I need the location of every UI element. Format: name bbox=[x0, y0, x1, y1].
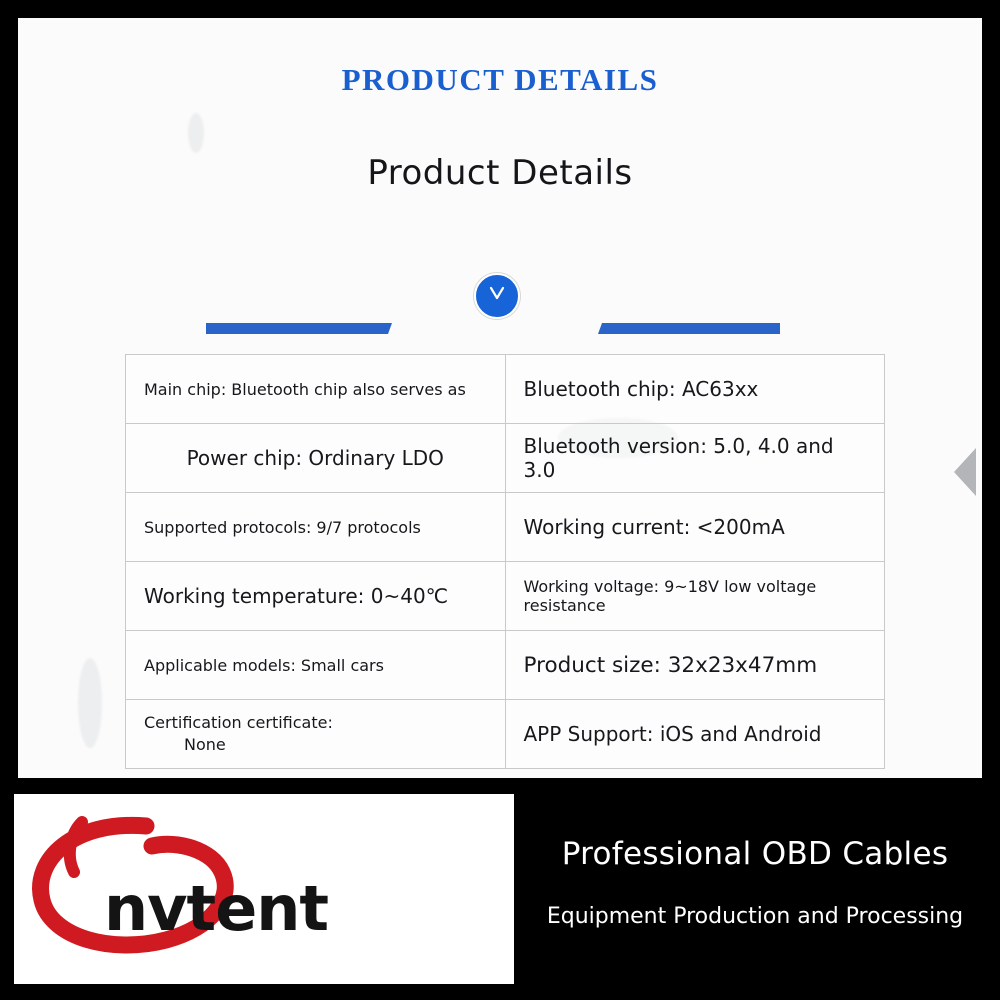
footer-title: Professional OBD Cables bbox=[524, 836, 986, 872]
chevron-down-icon bbox=[474, 273, 520, 319]
spec-label-line2: None bbox=[144, 734, 487, 756]
brand-name: nvtent bbox=[104, 872, 328, 945]
spec-label: Main chip: Bluetooth chip also serves as bbox=[126, 355, 506, 424]
table-row: Power chip: Ordinary LDO Bluetooth versi… bbox=[126, 424, 885, 493]
spec-label: Certification certificate: None bbox=[126, 700, 506, 769]
spec-value: APP Support: iOS and Android bbox=[505, 700, 885, 769]
page-title: Product Details bbox=[18, 153, 982, 193]
product-details-card: PRODUCT DETAILS Product Details Main chi… bbox=[18, 18, 982, 778]
table-row: Applicable models: Small cars Product si… bbox=[126, 631, 885, 700]
table-row: Working temperature: 0~40℃ Working volta… bbox=[126, 562, 885, 631]
brand-logo: nvtent bbox=[14, 794, 514, 984]
spec-value: Product size: 32x23x47mm bbox=[505, 631, 885, 700]
spec-label: Supported protocols: 9/7 protocols bbox=[126, 493, 506, 562]
table-row: Certification certificate: None APP Supp… bbox=[126, 700, 885, 769]
table-row: Main chip: Bluetooth chip also serves as… bbox=[126, 355, 885, 424]
footer-bar: nvtent Professional OBD Cables Equipment… bbox=[0, 780, 1000, 1000]
page-eyebrow: PRODUCT DETAILS bbox=[18, 62, 982, 98]
table-row: Supported protocols: 9/7 protocols Worki… bbox=[126, 493, 885, 562]
footer-text-block: Professional OBD Cables Equipment Produc… bbox=[524, 794, 986, 984]
spec-label-line1: Certification certificate: bbox=[144, 713, 333, 732]
specification-table: Main chip: Bluetooth chip also serves as… bbox=[125, 354, 885, 769]
spec-label: Power chip: Ordinary LDO bbox=[126, 424, 506, 493]
title-underline-bar bbox=[206, 323, 780, 334]
spec-value: Working current: <200mA bbox=[505, 493, 885, 562]
decorative-arrow-icon bbox=[954, 448, 976, 496]
footer-subtitle: Equipment Production and Processing bbox=[524, 904, 986, 929]
page-root: PRODUCT DETAILS Product Details Main chi… bbox=[0, 0, 1000, 1000]
spec-value: Bluetooth chip: AC63xx bbox=[505, 355, 885, 424]
spec-label: Applicable models: Small cars bbox=[126, 631, 506, 700]
spec-value: Working voltage: 9~18V low voltage resis… bbox=[505, 562, 885, 631]
spec-value: Bluetooth version: 5.0, 4.0 and 3.0 bbox=[505, 424, 885, 493]
page-title-block: Product Details bbox=[18, 153, 982, 233]
decorative-blob-1 bbox=[188, 113, 204, 153]
spec-label: Working temperature: 0~40℃ bbox=[126, 562, 506, 631]
decorative-blob-3 bbox=[78, 658, 102, 748]
